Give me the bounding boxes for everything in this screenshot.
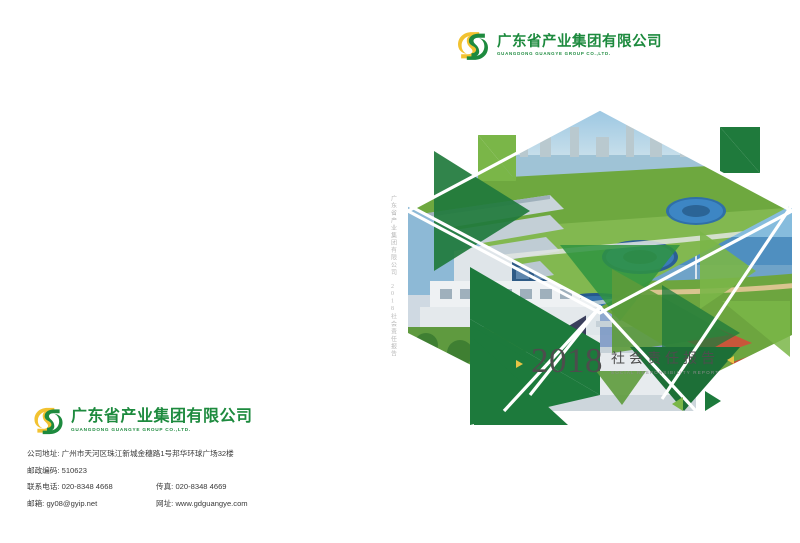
phone-cell: 联系电话: 020-8348 4668 <box>27 483 156 491</box>
spine-panel: 广东省产业集团有限公司 2018社会责任报告 <box>386 0 400 543</box>
email-website-row: 邮箱: gy08@gyip.net 网址: www.gdguangye.com <box>27 500 277 508</box>
title-words: 社会责任报告 SOCIAL RESPONSIBILITY REPORT <box>611 353 719 376</box>
report-cover-spread: 广东省产业集团有限公司 GUANGDONG GUANGYE GROUP CO.,… <box>0 0 800 543</box>
report-title-en: SOCIAL RESPONSIBILITY REPORT <box>611 371 719 376</box>
back-cover-panel: 广东省产业集团有限公司 GUANGDONG GUANGYE GROUP CO.,… <box>0 0 386 543</box>
report-title-cn: 社会责任报告 <box>611 353 719 367</box>
email-cell: 邮箱: gy08@gyip.net <box>27 500 156 508</box>
front-cover-logo-words: 广东省产业集团有限公司 GUANGDONG GUANGYE GROUP CO.,… <box>497 35 662 56</box>
company-name-cn: 广东省产业集团有限公司 <box>497 35 662 50</box>
cover-title-block: 2018 社会责任报告 SOCIAL RESPONSIBILITY REPORT <box>516 345 734 377</box>
email-label: 邮箱: <box>27 499 44 508</box>
spine-text-block: 广东省产业集团有限公司 2018社会责任报告 <box>386 195 400 375</box>
title-marker-left-icon <box>516 360 523 368</box>
website-cell: 网址: www.gdguangye.com <box>156 500 248 508</box>
gy-swirl-logo-icon <box>456 30 490 62</box>
company-name-cn: 广东省产业集团有限公司 <box>71 409 253 425</box>
website-value: www.gdguangye.com <box>175 499 247 508</box>
address-label: 公司地址: <box>27 449 59 458</box>
front-cover-panel: 广东省产业集团有限公司 GUANGDONG GUANGYE GROUP CO.,… <box>400 0 800 543</box>
address-value: 广州市天河区珠江新城金穗路1号邦华环球广场32楼 <box>62 449 234 458</box>
contact-block: 公司地址: 广州市天河区珠江新城金穗路1号邦华环球广场32楼 邮政编码: 510… <box>27 450 277 516</box>
accent-arrow-right-icon <box>705 391 721 411</box>
company-name-en: GUANGDONG GUANGYE GROUP CO.,LTD. <box>497 52 662 56</box>
fax-value: 020-8348 4669 <box>175 482 226 491</box>
spine-text: 广东省产业集团有限公司 2018社会责任报告 <box>389 195 398 358</box>
gy-swirl-logo-icon <box>33 406 64 436</box>
fax-label: 传真: <box>156 482 173 491</box>
postcode-row: 邮政编码: 510623 <box>27 467 277 475</box>
title-marker-right-icon <box>727 356 734 364</box>
company-name-en: GUANGDONG GUANGYE GROUP CO.,LTD. <box>71 428 253 433</box>
fax-cell: 传真: 020-8348 4669 <box>156 483 227 491</box>
report-year: 2018 <box>531 345 603 377</box>
phone-value: 020-8348 4668 <box>62 482 113 491</box>
address-row: 公司地址: 广州市天河区珠江新城金穗路1号邦华环球广场32楼 <box>27 450 277 458</box>
email-value: gy08@gyip.net <box>46 499 97 508</box>
phone-fax-row: 联系电话: 020-8348 4668 传真: 020-8348 4669 <box>27 483 277 491</box>
postcode-value: 510623 <box>62 466 87 475</box>
back-cover-logo: 广东省产业集团有限公司 GUANGDONG GUANGYE GROUP CO.,… <box>33 406 253 436</box>
accent-arrow-left-icon <box>672 397 683 411</box>
postcode-label: 邮政编码: <box>27 466 59 475</box>
phone-label: 联系电话: <box>27 482 59 491</box>
back-cover-logo-words: 广东省产业集团有限公司 GUANGDONG GUANGYE GROUP CO.,… <box>71 409 253 432</box>
website-label: 网址: <box>156 499 173 508</box>
front-cover-logo: 广东省产业集团有限公司 GUANGDONG GUANGYE GROUP CO.,… <box>456 30 662 62</box>
